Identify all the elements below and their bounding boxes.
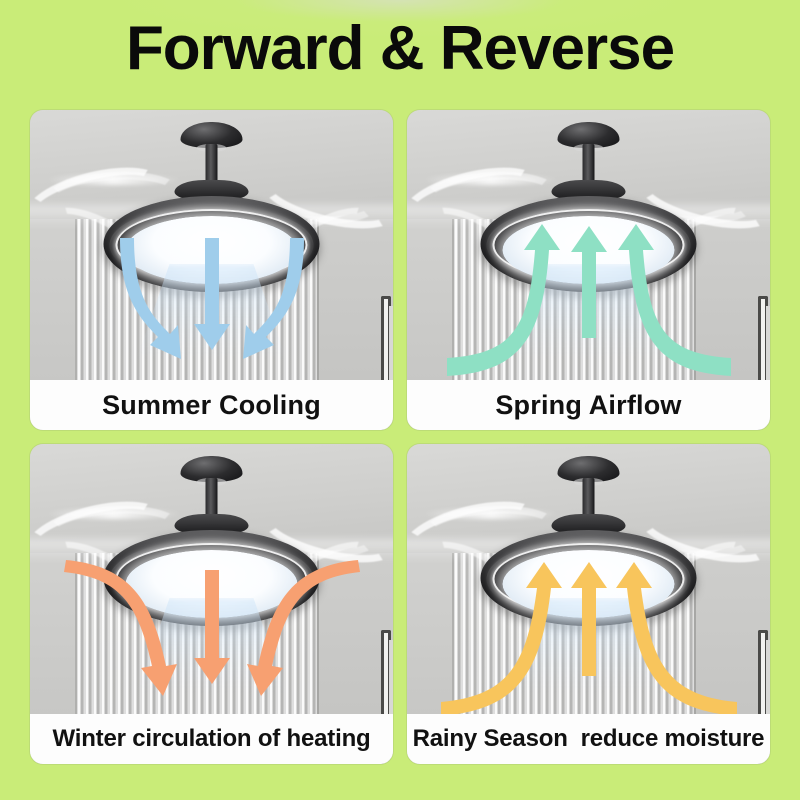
page-title: Forward & Reverse [0,14,800,84]
panel-caption: Rainy Season reduce moisture [407,714,770,764]
ceiling-fan-fixture [30,114,393,364]
fan-downrod [583,144,595,184]
panel-caption: Summer Cooling [30,380,393,430]
panel-summer-cooling[interactable]: Summer Cooling [30,110,393,430]
ceiling-fan-fixture [30,448,393,698]
fan-downrod [206,478,218,518]
caption-text: Spring Airflow [495,392,681,419]
panel-winter-circulation[interactable]: Winter circulation of heating [30,444,393,764]
infographic-page: Forward & Reverse [0,0,800,800]
panel-caption: Spring Airflow [407,380,770,430]
caption-text: Rainy Season reduce moisture [413,727,765,751]
caption-text: Summer Cooling [102,392,321,419]
fan-downrod [583,478,595,518]
panel-grid: Summer Cooling [30,110,770,770]
panel-rainy-season[interactable]: Rainy Season reduce moisture [407,444,770,764]
ceiling-fan-fixture [407,114,770,364]
panel-spring-airflow[interactable]: Spring Airflow [407,110,770,430]
panel-caption: Winter circulation of heating [30,714,393,764]
fan-downrod [206,144,218,184]
ceiling-fan-fixture [407,448,770,698]
caption-text: Winter circulation of heating [52,727,370,751]
